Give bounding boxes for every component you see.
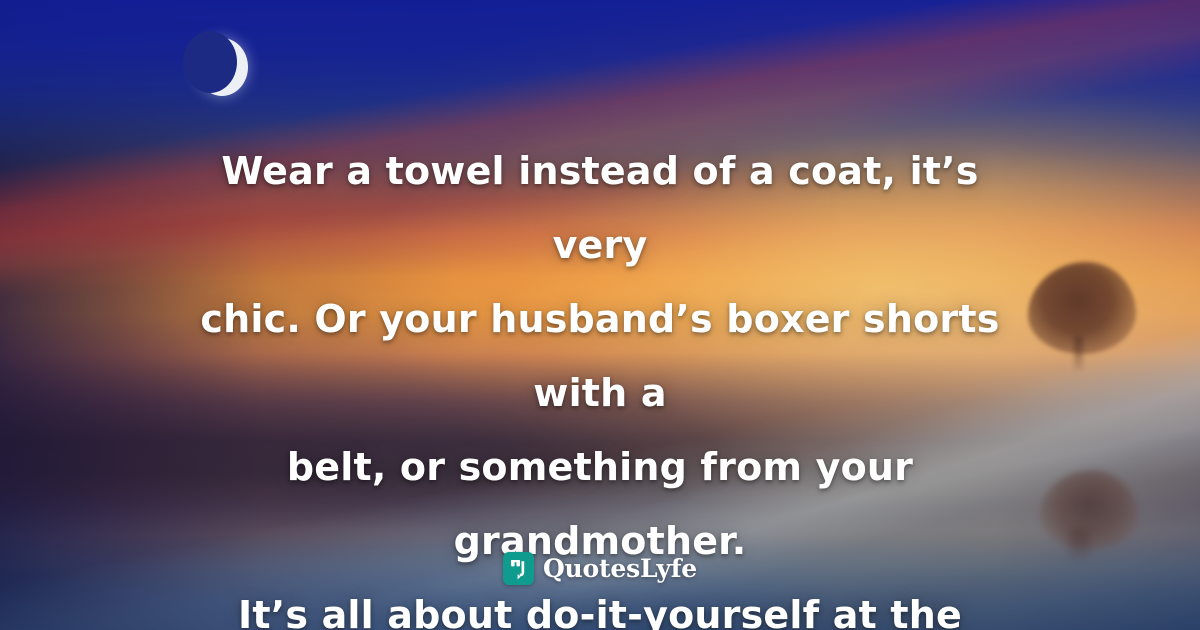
- card-content: Wear a towel instead of a coat, it’s ver…: [0, 0, 1200, 630]
- quote-line: chic. Or your husband’s boxer shorts wit…: [170, 282, 1030, 430]
- brand-logo[interactable]: QuotesLyfe: [0, 552, 1200, 585]
- quote-card: Wear a towel instead of a coat, it’s ver…: [0, 0, 1200, 630]
- quote-mark-icon: [503, 552, 534, 585]
- brand-name: QuotesLyfe: [543, 554, 697, 583]
- quote-line: It’s all about do-it-yourself at the mom…: [170, 578, 1030, 630]
- quote-line: Wear a towel instead of a coat, it’s ver…: [170, 134, 1030, 282]
